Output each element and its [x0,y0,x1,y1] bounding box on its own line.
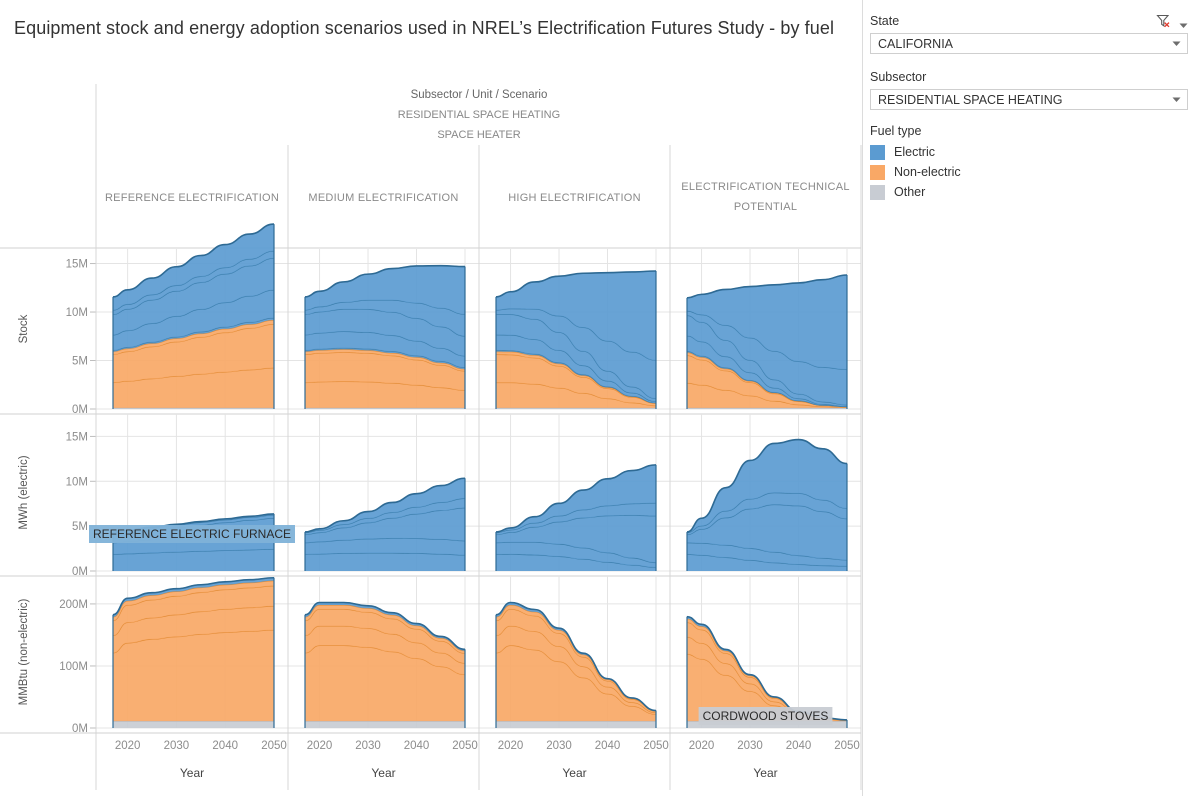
x-axis-tick-label: 2040 [786,740,812,752]
x-axis-tick-label: 2020 [115,740,141,752]
y-axis-title: MWh (electric) [18,455,30,529]
legend-swatch-icon [870,165,885,180]
y-axis-tick-label: 10M [66,307,88,319]
chart-panel[interactable] [305,576,465,728]
state-filter: State CALIFORNIA [870,12,1188,54]
chart-panel[interactable] [496,249,656,409]
x-axis-tick-label: 2040 [212,740,238,752]
header-subsector: RESIDENTIAL SPACE HEATING [398,109,560,121]
chart-panel[interactable] [305,414,465,571]
x-axis-tick-label: 2050 [643,740,669,752]
legend-title: Fuel type [870,124,1188,138]
chart-panel[interactable] [113,414,274,571]
chart-panel[interactable] [687,576,847,728]
column-headers: Subsector / Unit / ScenarioRESIDENTIAL S… [105,89,861,248]
y-axis-tick-label: 5M [72,356,88,368]
chart-panel[interactable] [687,249,847,409]
state-filter-label: State [870,14,899,28]
chart-svg[interactable]: Subsector / Unit / ScenarioRESIDENTIAL S… [0,0,862,796]
chevron-down-icon [1172,37,1181,51]
x-axis-tick-label: 2020 [689,740,715,752]
x-axis-title: Year [371,766,395,780]
x-axis-tick-label: 2030 [546,740,572,752]
y-axis-title: Stock [18,314,30,343]
x-axis-tick-label: 2030 [164,740,190,752]
controls-panel: State CALIFORNIA [862,0,1200,796]
chart-row: Stock0M5M10M15M [0,224,861,416]
y-axis-tick-label: 0M [72,404,88,416]
y-axis-tick-label: 200M [59,599,88,611]
x-axis-tick-label: 2030 [355,740,381,752]
legend-swatch-icon [870,145,885,160]
x-axis-title: Year [180,766,204,780]
x-axis-tick-label: 2040 [595,740,621,752]
x-axis-tick-label: 2030 [737,740,763,752]
column-header-label[interactable]: ELECTRIFICATION TECHNICAL [681,181,849,193]
y-axis-tick-label: 15M [66,259,88,271]
legend-swatch-icon [870,185,885,200]
chart-panel[interactable] [687,414,847,571]
chart-panel[interactable] [496,576,656,728]
x-axis-title: Year [753,766,777,780]
y-axis-tick-label: 5M [72,521,88,533]
subsector-filter-label: Subsector [870,70,926,84]
x-axis-tick-label: 2050 [452,740,478,752]
chart-panel[interactable] [113,576,274,728]
area-layer[interactable] [496,721,656,728]
chevron-down-icon [1172,93,1181,107]
column-header-label[interactable]: MEDIUM ELECTRIFICATION [308,192,458,204]
visualization-area: Subsector / Unit / ScenarioRESIDENTIAL S… [0,0,862,796]
legend-item-non-electric[interactable]: Non-electric [870,162,1188,182]
y-axis-tick-label: 100M [59,661,88,673]
area-layer[interactable] [305,721,465,728]
y-axis-tick-label: 0M [72,566,88,578]
state-filter-chevron-down-icon[interactable] [1179,17,1188,26]
chart-row: MWh (electric)0M5M10M15M [0,413,861,578]
legend-item-electric[interactable]: Electric [870,142,1188,162]
x-axis-tick-label: 2040 [404,740,430,752]
column-header-label[interactable]: REFERENCE ELECTRIFICATION [105,192,279,204]
x-axis-tick-label: 2020 [498,740,524,752]
mark-label-text: REFERENCE ELECTRIC FURNACE [93,527,291,541]
funnel-clear-icon[interactable] [1156,14,1171,28]
mark-label[interactable]: CORDWOOD STOVES [699,707,833,725]
fuel-type-legend: Fuel type ElectricNon-electricOther [870,124,1188,202]
column-header-label[interactable]: HIGH ELECTRIFICATION [508,192,641,204]
legend-item-label: Electric [894,145,935,159]
column-header-label[interactable]: POTENTIAL [734,201,797,213]
state-dropdown-value: CALIFORNIA [878,37,953,51]
y-axis-title: MMBtu (non-electric) [18,598,30,705]
area-layer[interactable] [113,721,274,728]
x-axis: 2020203020402050Year2020203020402050Year… [0,733,861,790]
chart-panel[interactable] [496,414,656,571]
subsector-dropdown-value: RESIDENTIAL SPACE HEATING [878,93,1063,107]
legend-item-label: Other [894,185,925,199]
y-axis-tick-label: 15M [66,431,88,443]
header-unit: SPACE HEATER [437,129,520,141]
area-layer[interactable] [305,553,465,571]
area-layer[interactable] [113,630,274,721]
subsector-filter: Subsector RESIDENTIAL SPACE HEATING [870,68,1188,110]
x-axis-tick-label: 2020 [307,740,333,752]
mark-label[interactable]: REFERENCE ELECTRIC FURNACE [89,525,295,543]
state-dropdown[interactable]: CALIFORNIA [870,33,1188,54]
x-axis-title: Year [562,766,586,780]
x-axis-tick-label: 2050 [261,740,287,752]
legend-item-other[interactable]: Other [870,182,1188,202]
subsector-dropdown[interactable]: RESIDENTIAL SPACE HEATING [870,89,1188,110]
chart-panel[interactable] [305,249,465,409]
x-axis-tick-label: 2050 [834,740,860,752]
legend-item-label: Non-electric [894,165,961,179]
y-axis-tick-label: 10M [66,476,88,488]
header-field-caption: Subsector / Unit / Scenario [411,89,548,101]
chart-panel[interactable] [113,224,274,409]
mark-label-text: CORDWOOD STOVES [703,709,829,723]
